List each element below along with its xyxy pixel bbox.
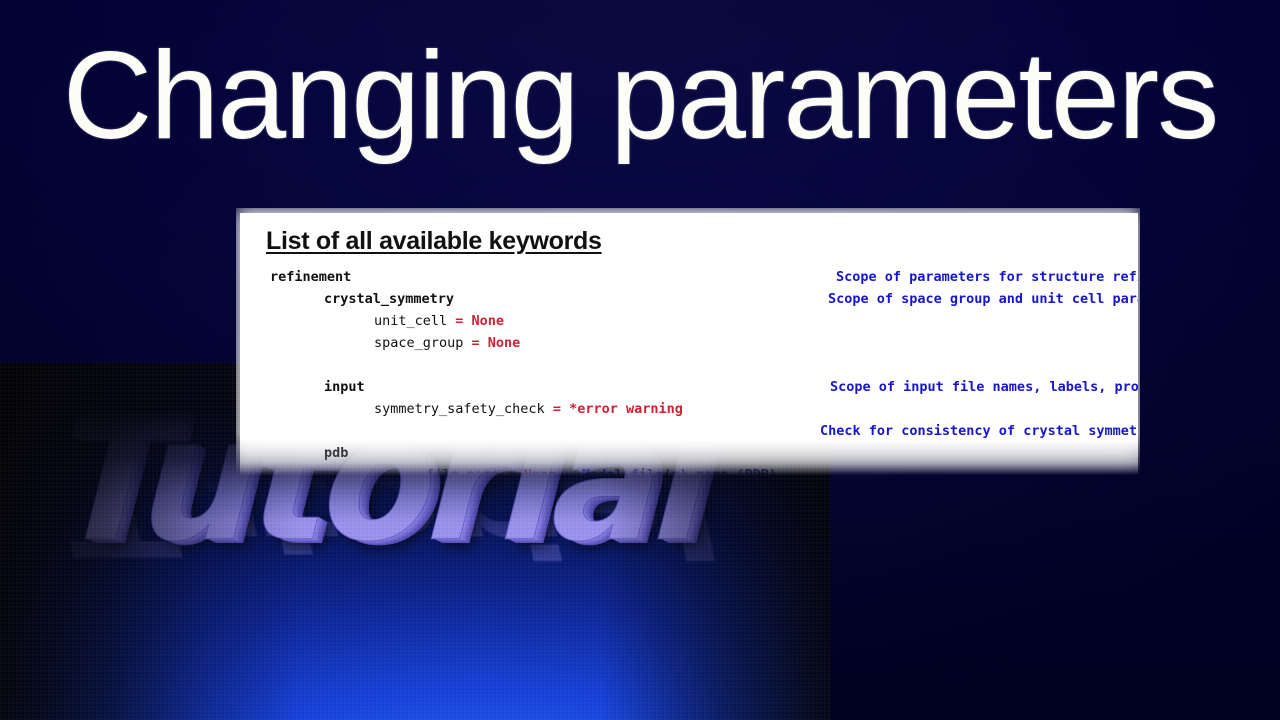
keyword-row: Check for consistency of crystal symmetr… [240,423,1138,445]
keyword-row: refinementScope of parameters for struct… [240,269,1138,291]
keyword-equals: = [499,467,523,475]
keyword-name: symmetry_safety_check = *error warning [374,401,683,417]
keyword-row: inputScope of input file names, labels, … [240,379,1138,401]
keyword-description: Scope of space group and unit cell param… [828,291,1138,307]
keyword-row: file_name = NoneModel file(s) name (PDB) [240,467,1138,475]
keyword-row: symmetry_safety_check = *error warning [240,401,1138,423]
keyword-description: Model file(s) name (PDB) [582,467,777,475]
panel-heading: List of all available keywords [266,227,602,256]
keyword-name: file_name = None [426,467,556,475]
keyword-name: pdb [324,445,348,461]
keyword-row: crystal_symmetryScope of space group and… [240,291,1138,313]
keyword-name: input [324,379,365,395]
keywords-panel: List of all available keywords refinemen… [236,208,1140,476]
keyword-equals: = [447,313,471,329]
keyword-value: None [472,313,505,329]
keyword-name: unit_cell = None [374,313,504,329]
keyword-description: Scope of input file names, labels, proce… [830,379,1138,395]
keyword-equals: = [545,401,569,417]
keyword-description: Scope of parameters for structure refine… [836,269,1138,285]
page-title: Changing parameters [0,26,1280,166]
panel-surface: List of all available keywords refinemen… [240,213,1138,475]
keyword-equals: = [463,335,487,351]
keyword-row: pdb [240,445,1138,467]
keyword-row: space_group = None [240,335,1138,357]
keyword-list: refinementScope of parameters for struct… [240,269,1138,475]
keyword-row [240,357,1138,379]
keyword-name: refinement [270,269,351,285]
keyword-name: space_group = None [374,335,520,351]
keyword-value: None [488,335,521,351]
keyword-value: None [524,467,557,475]
keyword-description: Check for consistency of crystal symmetr… [820,423,1138,439]
keyword-row: unit_cell = None [240,313,1138,335]
keyword-value: *error warning [569,401,683,417]
slide-canvas: Changing parameters Tutorial Tutorial Li… [0,0,1280,720]
keyword-name: crystal_symmetry [324,291,454,307]
